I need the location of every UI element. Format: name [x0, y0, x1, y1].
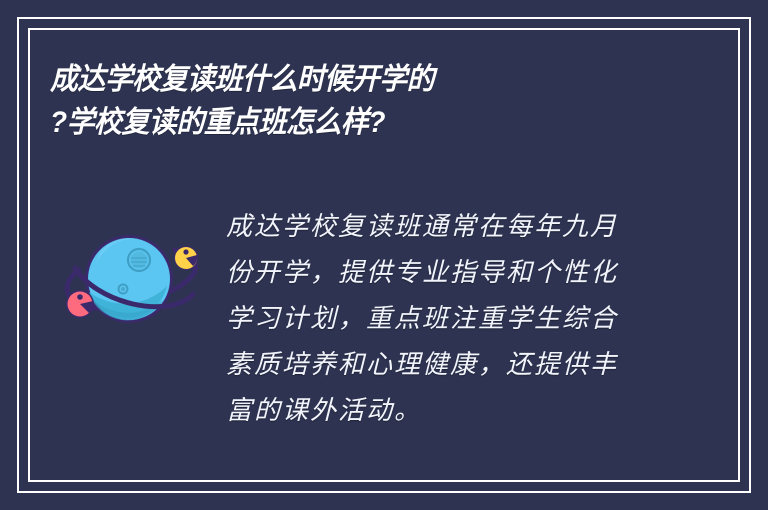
poster-canvas: 成达学校复读班什么时候开学的 ?学校复读的重点班怎么样? — [0, 0, 768, 510]
page-title: 成达学校复读班什么时候开学的 ?学校复读的重点班怎么样? — [50, 58, 710, 144]
moon-right — [174, 246, 198, 270]
body-line-5: 富的课外活动。 — [226, 388, 662, 434]
body-paragraph: 成达学校复读班通常在每年九月 份开学，提供专业指导和个性化 学习计划，重点班注重… — [226, 204, 662, 434]
body-line-3: 学习计划，重点班注重学生综合 — [226, 296, 662, 342]
moon-left — [66, 290, 94, 318]
body-line-2: 份开学，提供专业指导和个性化 — [226, 250, 662, 296]
title-line-1: 成达学校复读班什么时候开学的 — [50, 58, 664, 101]
planet-illustration — [55, 222, 207, 334]
body-line-1: 成达学校复读班通常在每年九月 — [226, 204, 662, 250]
title-line-2: ?学校复读的重点班怎么样? — [50, 101, 664, 144]
planet-body — [85, 235, 173, 323]
body-line-4: 素质培养和心理健康，还提供丰 — [226, 342, 662, 388]
